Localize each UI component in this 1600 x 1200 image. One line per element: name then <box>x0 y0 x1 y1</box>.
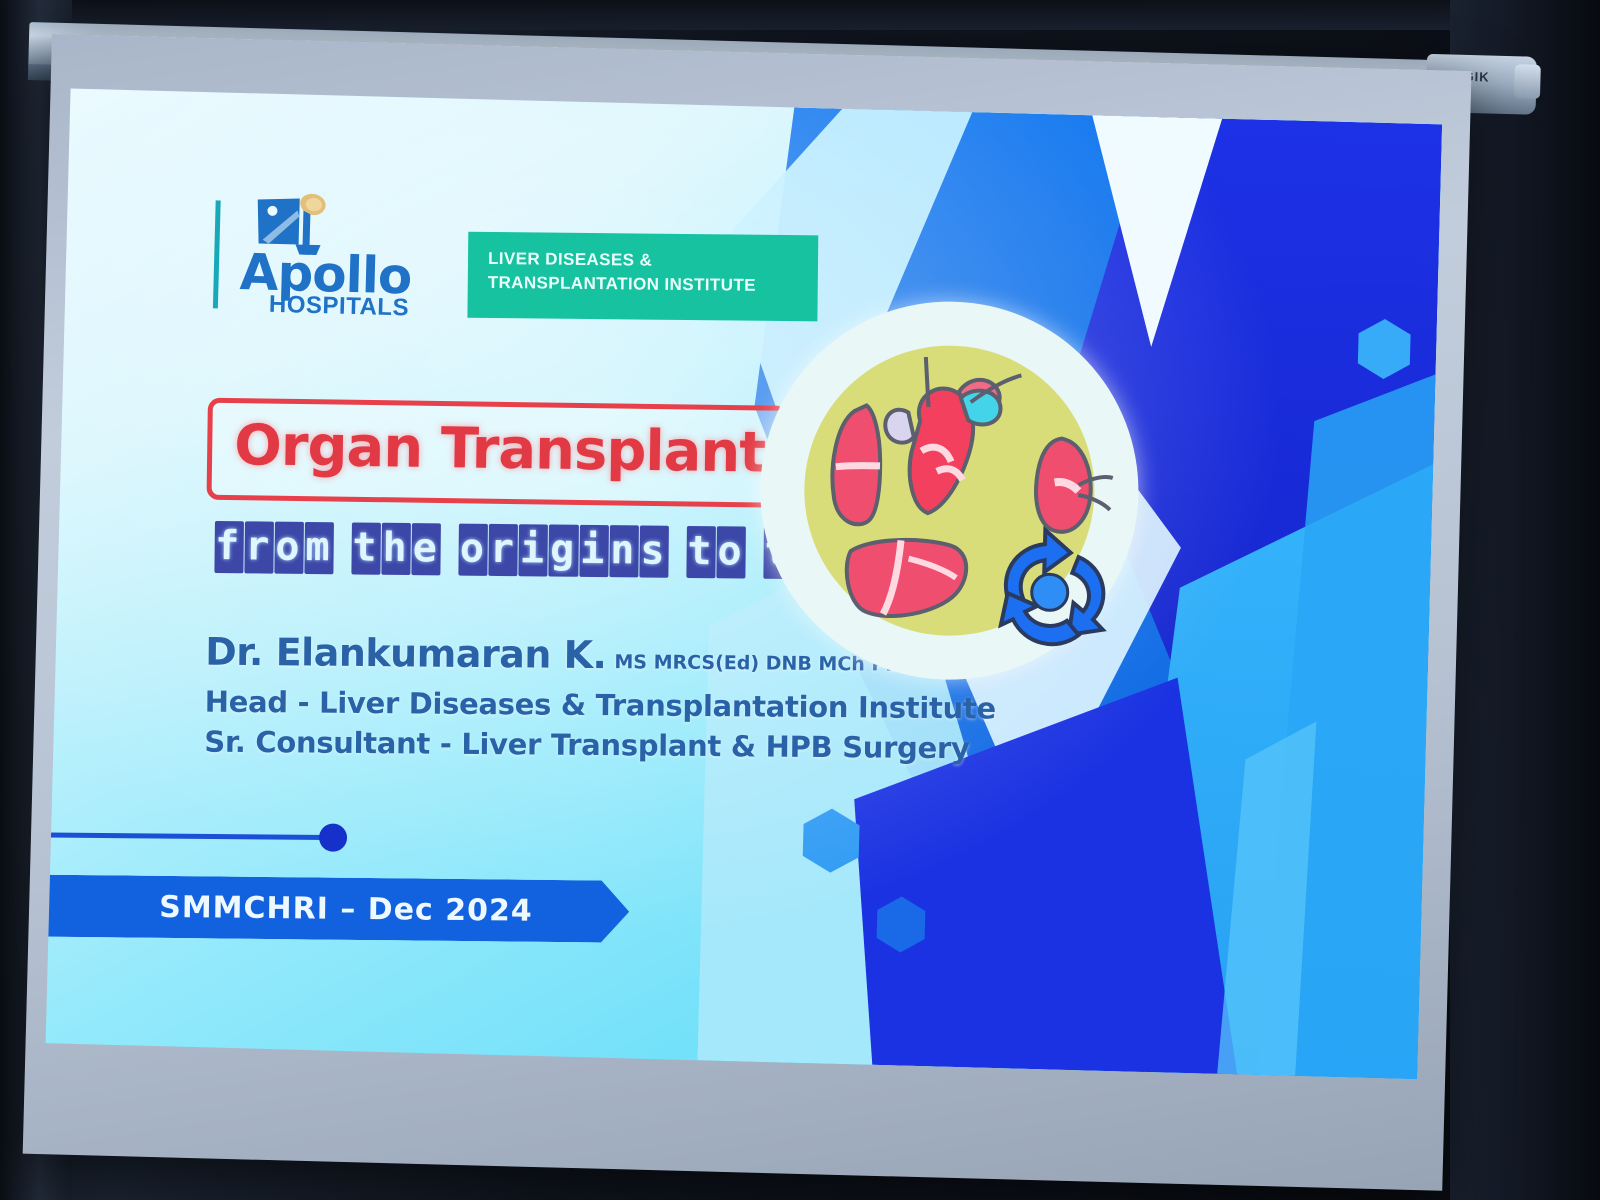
subtitle-glyph <box>334 522 351 574</box>
subtitle-glyph: o <box>274 522 304 574</box>
wall-right <box>1450 0 1600 1200</box>
subtitle-glyph: o <box>459 524 489 576</box>
subtitle-glyph: n <box>609 525 639 577</box>
subtitle-glyph: e <box>411 523 441 575</box>
decorative-rule <box>46 832 327 840</box>
subtitle-glyph: r <box>244 521 274 573</box>
subtitle-glyph: i <box>519 524 549 576</box>
subtitle-glyph: m <box>304 522 334 574</box>
subtitle-glyph: t <box>686 526 716 578</box>
slide-title-box: Organ Transplantation <box>207 398 788 508</box>
institute-badge-line1: LIVER DISEASES & <box>488 249 652 270</box>
decorative-rule-dot <box>319 824 347 852</box>
presenter-role-line-2: Sr. Consultant - Liver Transplant & HPB … <box>204 722 934 768</box>
organ-illustration <box>755 297 1143 685</box>
subtitle-glyph <box>442 523 459 575</box>
footer-banner: SMMCHRI – Dec 2024 <box>46 875 630 943</box>
organ-icons-svg <box>755 297 1143 685</box>
kidney-icon <box>1035 438 1114 533</box>
projection-screen: Apollo HOSPITALS LIVER DISEASES & TRANSP… <box>23 34 1472 1191</box>
apollo-hospitals-logo: Apollo HOSPITALS <box>239 191 432 326</box>
liver-icon <box>846 538 967 618</box>
presenter-name: Dr. Elankumaran K. <box>205 630 607 678</box>
subtitle-glyph: h <box>381 523 411 575</box>
subtitle-glyph: i <box>579 525 609 577</box>
presenter-role-line-1: Head - Liver Diseases & Transplantation … <box>205 682 935 728</box>
subtitle-glyph: r <box>489 524 519 576</box>
apollo-hospitals-subtext: HOSPITALS <box>269 293 410 321</box>
header-divider-rule <box>213 200 221 308</box>
subtitle-glyph: t <box>351 522 381 574</box>
footer-venue-date: SMMCHRI – Dec 2024 <box>159 890 533 929</box>
presentation-slide: Apollo HOSPITALS LIVER DISEASES & TRANSP… <box>46 89 1443 1080</box>
lung-icon <box>831 405 882 525</box>
recycle-arrows-icon <box>1000 529 1105 645</box>
subtitle-glyph: o <box>716 526 746 578</box>
subtitle-glyph: f <box>214 521 244 573</box>
room-background: LOGIK <box>0 0 1600 1200</box>
subtitle-glyph: s <box>639 525 669 577</box>
subtitle-glyph: g <box>549 524 579 576</box>
slide-header: Apollo HOSPITALS LIVER DISEASES & TRANSP… <box>213 190 836 336</box>
subtitle-glyph <box>669 526 686 578</box>
heart-icon <box>883 356 1022 515</box>
institute-badge-line2: TRANSPLANTATION INSTITUTE <box>488 273 756 295</box>
